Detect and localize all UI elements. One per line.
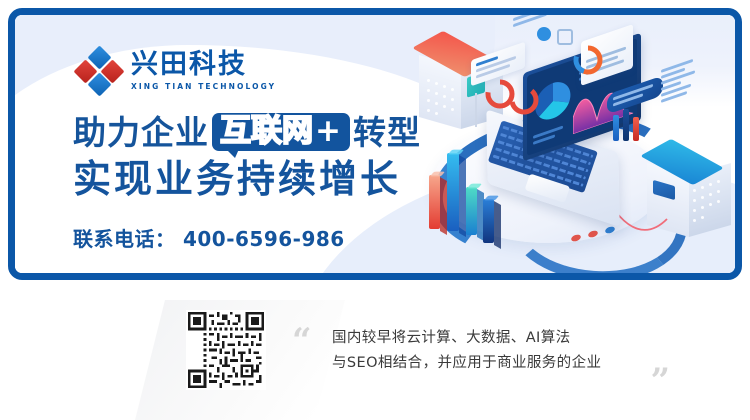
bar-3d-teal <box>466 187 477 235</box>
logo-text-block: 兴田科技 XING TIAN TECHNOLOGY <box>131 51 276 91</box>
banner-canvas: 兴田科技 XING TIAN TECHNOLOGY 助力企业 互联网 + 转型 … <box>0 0 750 420</box>
qr-code[interactable] <box>186 310 266 390</box>
contact-phone: 联系电话： 400-6596-986 <box>73 223 345 252</box>
tagline-quote-block: “ 国内较早将云计算、大数据、AI算法 与SEO相结合，并应用于商业服务的企业 … <box>292 318 692 394</box>
internet-plus-badge: 互联网 + <box>212 113 350 151</box>
bar-3d-cyan <box>447 153 459 231</box>
chip-circle-icon <box>537 27 551 41</box>
company-logo: 兴田科技 XING TIAN TECHNOLOGY <box>77 49 276 93</box>
bar-3d-darkblue <box>483 199 494 243</box>
building-sign-pole <box>475 93 477 127</box>
floating-text-block-right <box>661 56 701 116</box>
tagline-line-2: 与SEO相结合，并应用于商业服务的企业 <box>332 351 672 376</box>
headline-line-2: 实现业务持续增长 <box>73 160 421 198</box>
badge-plus-sign: + <box>315 116 342 147</box>
quote-close-mark: ” <box>650 364 670 398</box>
badge-text: 互联网 <box>220 116 313 147</box>
donut-chart-red-2 <box>507 83 541 117</box>
isometric-cloud-analytics-illustration <box>411 15 735 273</box>
logo-name-cn: 兴田科技 <box>131 51 276 78</box>
headline-prefix: 助力企业 <box>73 116 209 149</box>
hero-card-inner: 兴田科技 XING TIAN TECHNOLOGY 助力企业 互联网 + 转型 … <box>15 15 735 273</box>
diamond-grid-logo-icon <box>77 49 121 93</box>
chip-square-icon <box>557 29 573 45</box>
mini-bar-blue <box>613 115 619 141</box>
headline-block: 助力企业 互联网 + 转型 实现业务持续增长 <box>73 113 421 198</box>
bar-3d-red <box>429 175 440 229</box>
tagline-line-1: 国内较早将云计算、大数据、AI算法 <box>332 326 672 351</box>
mini-bar-red <box>633 117 639 141</box>
tagline-text: 国内较早将云计算、大数据、AI算法 与SEO相结合，并应用于商业服务的企业 <box>332 326 672 377</box>
logo-name-en: XING TIAN TECHNOLOGY <box>131 83 276 91</box>
headline-line-1: 助力企业 互联网 + 转型 <box>73 113 421 151</box>
donut-chart-orange <box>571 43 605 77</box>
qr-code-image <box>188 312 264 388</box>
quote-open-mark: “ <box>292 324 312 358</box>
hero-card: 兴田科技 XING TIAN TECHNOLOGY 助力企业 互联网 + 转型 … <box>8 8 742 280</box>
mini-bar-darkblue <box>623 109 629 141</box>
